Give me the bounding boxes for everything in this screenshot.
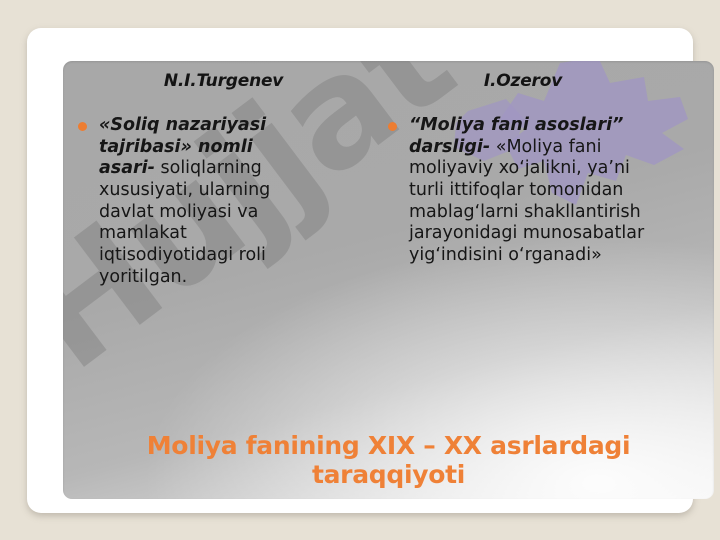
slide-stage: Hujjat N.I.Turgenev «Soliq nazariyasi ta… <box>0 0 720 540</box>
column-left: N.I.Turgenev «Soliq nazariyasi tajribasi… <box>71 71 376 289</box>
slide-card: Hujjat N.I.Turgenev «Soliq nazariyasi ta… <box>27 28 693 513</box>
column-right-heading: I.Ozerov <box>381 71 699 91</box>
column-right: I.Ozerov “Moliya fani asoslari” darsligi… <box>381 71 699 267</box>
column-left-bullet-text: «Soliq nazariyasi tajribasi» nomli asari… <box>99 115 309 289</box>
column-left-heading: N.I.Turgenev <box>71 71 376 91</box>
bullet-dot-icon <box>388 122 397 131</box>
slide-title: Moliya fanining XIX – XX asrlardagi tara… <box>63 431 714 489</box>
column-left-bullet-row: «Soliq nazariyasi tajribasi» nomli asari… <box>71 115 376 289</box>
bullet-dot-icon <box>78 122 87 131</box>
slide-content-panel: Hujjat N.I.Turgenev «Soliq nazariyasi ta… <box>63 61 714 499</box>
column-right-bullet-row: “Moliya fani asoslari” darsligi- «Moliya… <box>381 115 699 267</box>
column-right-bullet-text: “Moliya fani asoslari” darsligi- «Moliya… <box>409 115 659 267</box>
